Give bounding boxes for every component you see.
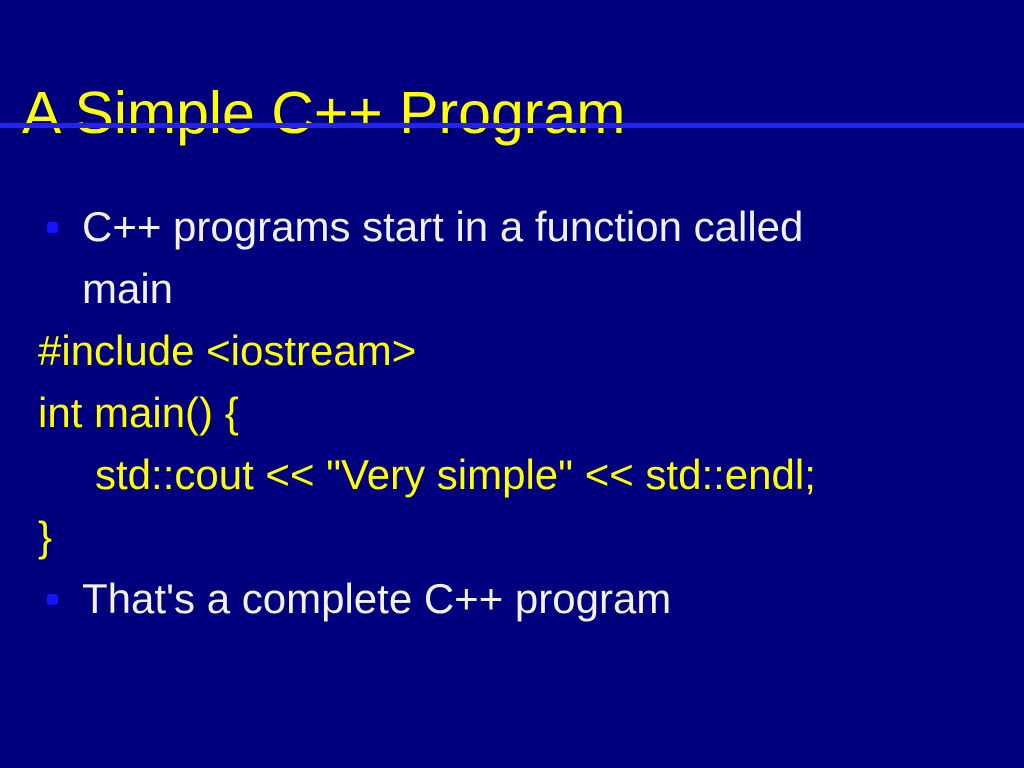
bullet-item-label: That's a complete C++ program	[82, 568, 671, 630]
presentation-slide: A Simple C++ Program C++ programs start …	[0, 0, 1024, 768]
code-line-text: #include <iostream>	[38, 320, 416, 382]
bullet-marker-icon	[47, 594, 58, 605]
code-line: int main() {	[0, 382, 1024, 444]
bullet-item: C++ programs start in a function called	[0, 196, 1024, 258]
bullet-item: That's a complete C++ program	[0, 568, 1024, 630]
title-divider-rule	[0, 123, 1024, 128]
bullet-marker-icon	[47, 222, 58, 233]
slide-title: A Simple C++ Program	[22, 78, 625, 148]
code-line: }	[0, 506, 1024, 568]
bullet-item-continuation: main	[0, 258, 1024, 320]
bullet-item-label: C++ programs start in a function called	[82, 196, 803, 258]
bullet-item-continuation-label: main	[82, 258, 173, 320]
code-line-text: int main() {	[38, 382, 239, 444]
code-line-text: std::cout << "Very simple" << std::endl;	[95, 444, 816, 506]
slide-body: C++ programs start in a function called …	[0, 196, 1024, 630]
code-line: std::cout << "Very simple" << std::endl;	[0, 444, 1024, 506]
code-line-text: }	[38, 506, 52, 568]
code-line: #include <iostream>	[0, 320, 1024, 382]
